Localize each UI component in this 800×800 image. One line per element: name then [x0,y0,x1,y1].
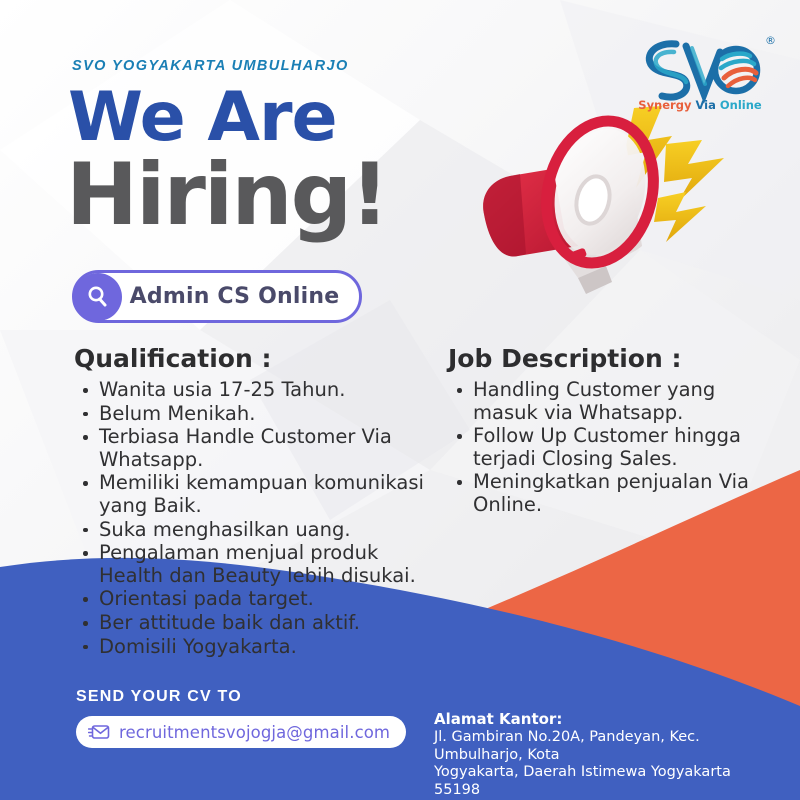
position-title: Admin CS Online [122,284,359,309]
list-item: Pengalaman menjual produk Health dan Bea… [74,542,444,587]
headline-line-2: Hiring! [66,152,387,238]
job-description-section: Job Description : Handling Customer yang… [448,344,758,518]
address-line-2: Yogyakarta, Daerah Istimewa Yogyakarta 5… [434,764,774,799]
qualification-section: Qualification : Wanita usia 17-25 Tahun.… [74,344,444,659]
list-item: Wanita usia 17-25 Tahun. [74,379,444,402]
qualification-list: Wanita usia 17-25 Tahun. Belum Menikah. … [74,379,444,658]
list-item: Ber attitude baik dan aktif. [74,612,444,635]
list-item: Handling Customer yang masuk via Whatsap… [448,379,758,424]
svg-text:Synergy Via Online: Synergy Via Online [638,98,762,112]
svo-logo: ® Synergy Via Online [628,22,778,114]
job-description-list: Handling Customer yang masuk via Whatsap… [448,379,758,517]
list-item: Orientasi pada target. [74,588,444,611]
list-item: Memiliki kemampuan komunikasi yang Baik. [74,472,444,517]
address-line-1: Jl. Gambiran No.20A, Pandeyan, Kec. Umbu… [434,729,774,764]
search-icon [74,273,122,321]
list-item: Domisili Yogyakarta. [74,636,444,659]
position-pill[interactable]: Admin CS Online [72,270,362,323]
list-item: Meningkatkan penjualan Via Online. [448,471,758,516]
megaphone-illustration [466,96,728,328]
list-item: Belum Menikah. [74,403,444,426]
svg-text:®: ® [765,34,776,47]
qualification-heading: Qualification : [74,344,444,373]
envelope-icon [88,724,110,740]
send-cv-label: SEND YOUR CV TO [76,688,242,706]
office-address-block: Alamat Kantor: Jl. Gambiran No.20A, Pand… [434,710,774,800]
headline-line-1: We Are [68,84,337,152]
list-item: Follow Up Customer hingga terjadi Closin… [448,425,758,470]
job-description-heading: Job Description : [448,344,758,373]
address-title: Alamat Kantor: [434,710,774,728]
list-item: Terbiasa Handle Customer Via Whatsapp. [74,426,444,471]
hiring-poster: ® Synergy Via Online [0,0,800,800]
email-pill[interactable]: recruitmentsvojogja@gmail.com [76,716,406,748]
email-address: recruitmentsvojogja@gmail.com [119,723,390,742]
brand-eyebrow: SVO YOGYAKARTA UMBULHARJO [72,58,349,74]
list-item: Suka menghasilkan uang. [74,519,444,542]
